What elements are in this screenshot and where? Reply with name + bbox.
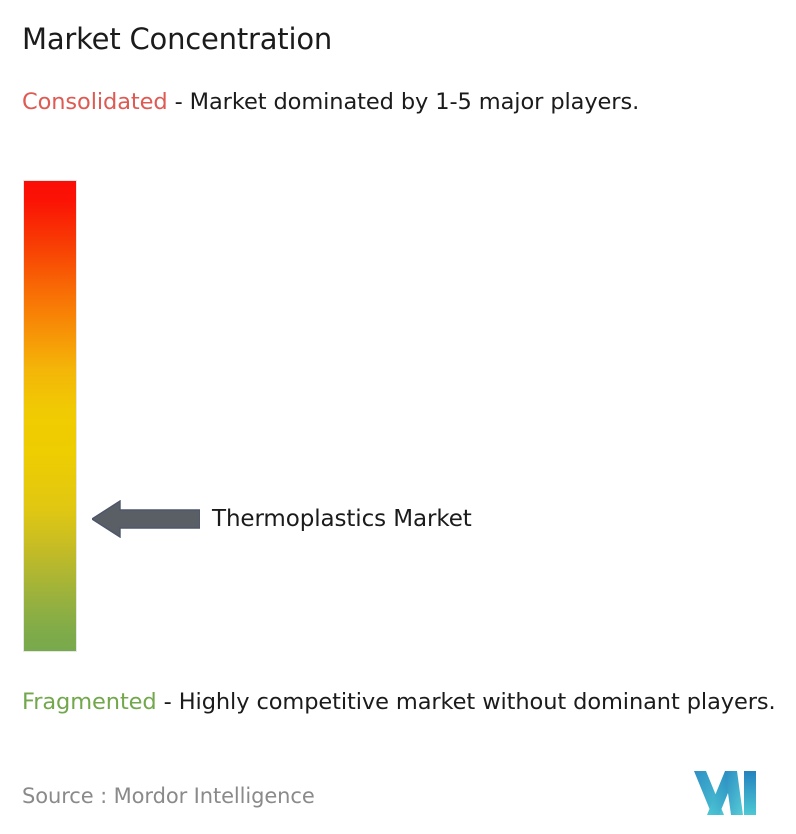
legend-key-fragmented: Fragmented <box>22 689 157 715</box>
source-note: Source : Mordor Intelligence <box>22 782 315 810</box>
page-title: Market Concentration <box>22 20 332 58</box>
legend-description-fragmented: - Highly competitive market without domi… <box>164 689 776 715</box>
legend-consolidated: Consolidated - Market dominated by 1-5 m… <box>22 87 782 118</box>
legend-description-consolidated: - Market dominated by 1-5 major players. <box>175 89 640 115</box>
legend-fragmented: Fragmented - Highly competitive market w… <box>22 687 782 718</box>
source-label: Source : <box>22 784 107 808</box>
source-value: Mordor Intelligence <box>114 784 315 808</box>
annotation-label-thermoplastics-market: Thermoplastics Market <box>212 503 472 535</box>
market-concentration-scale-bar <box>24 181 76 651</box>
legend-key-consolidated: Consolidated <box>22 89 168 115</box>
mordor-intelligence-logo-icon <box>694 771 756 815</box>
left-arrow-icon <box>92 500 200 538</box>
